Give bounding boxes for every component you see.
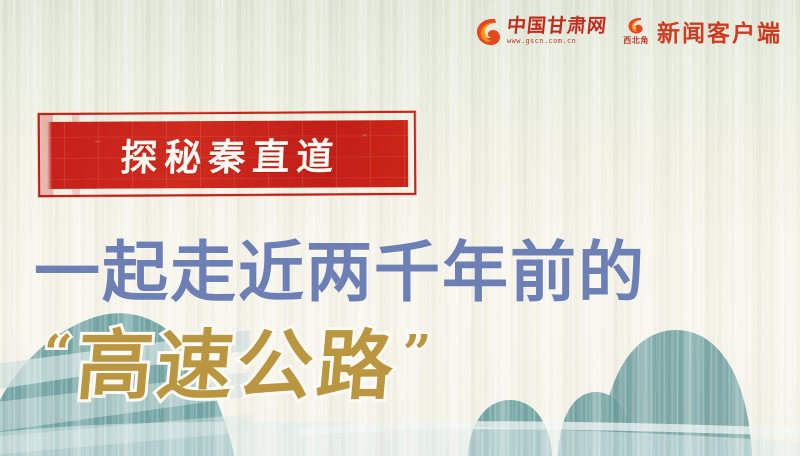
poster-canvas: 中国甘肃网 www.gscn.com.cn 西北角 新闻客户端 探秘秦直道 一起…	[0, 0, 800, 456]
quote-open-mark: “	[44, 328, 73, 378]
headline-line-2-group: “ 高速公路 ”	[44, 328, 432, 404]
xibeijiao-flame-icon	[627, 16, 645, 34]
brand-logo-bar: 中国甘肃网 www.gscn.com.cn 西北角 新闻客户端	[475, 14, 782, 48]
site-name: 中国甘肃网	[506, 17, 608, 36]
app-mark-label: 西北角	[623, 35, 649, 46]
quote-close-mark: ”	[403, 328, 432, 378]
gansu-net-logo[interactable]: 中国甘肃网 www.gscn.com.cn	[475, 16, 607, 46]
gansu-net-wordmark: 中国甘肃网 www.gscn.com.cn	[507, 17, 607, 45]
seal-label: 探秘秦直道	[36, 111, 418, 197]
xibeijiao-mark: 西北角	[621, 16, 651, 46]
headline-line-2: 高速公路	[73, 328, 400, 404]
headline-line-1: 一起走近两千年前的	[34, 240, 646, 306]
site-url: www.gscn.com.cn	[507, 38, 607, 45]
gansu-flame-icon	[475, 16, 501, 46]
xibeijiao-app-logo[interactable]: 西北角 新闻客户端	[621, 14, 782, 48]
series-seal-badge: 探秘秦直道	[38, 112, 416, 196]
app-name: 新闻客户端	[657, 14, 782, 48]
